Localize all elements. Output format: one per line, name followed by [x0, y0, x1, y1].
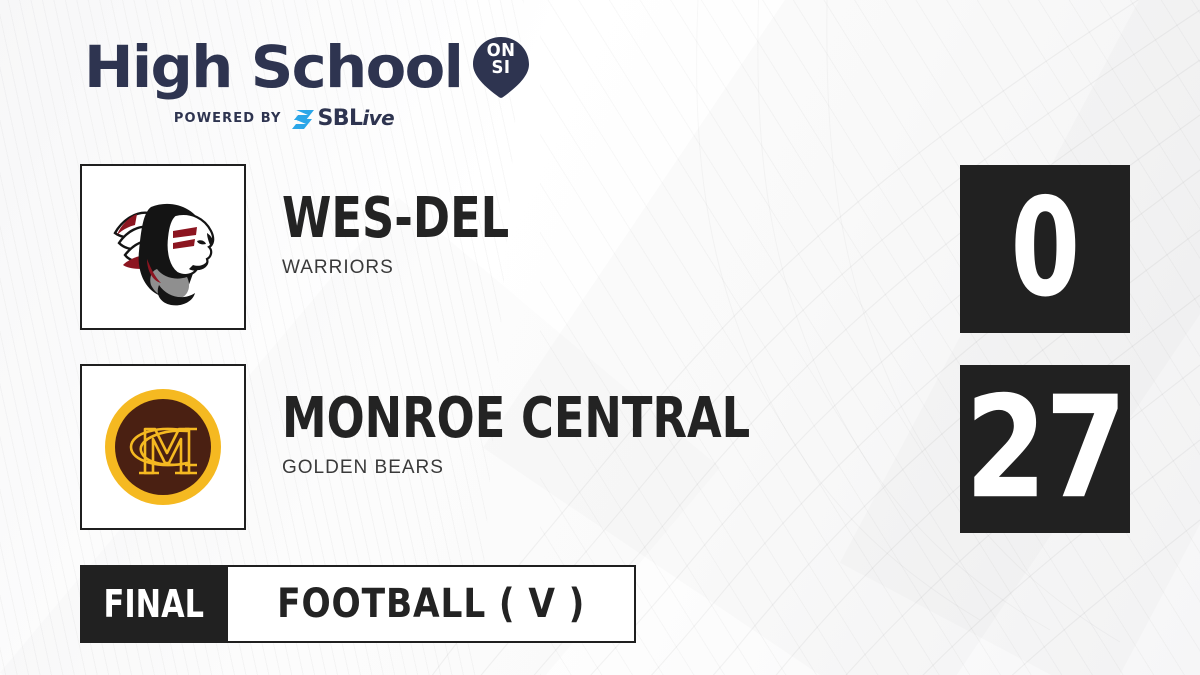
scoreboard-graphic: High School ON SI POWERED BY SBLive	[0, 0, 1200, 675]
brand-wordmark: High School	[84, 38, 462, 96]
game-status-label: FINAL	[104, 582, 204, 626]
sblive-wordmark: SBLive	[318, 107, 395, 130]
sblive-logo: SBLive	[292, 107, 395, 130]
score-box-away: 0	[960, 165, 1130, 333]
sblive-name-italic: ive	[362, 106, 394, 130]
team-text-away: WES-DEL WARRIORS	[282, 190, 982, 279]
status-bar: FINAL FOOTBALL ( V )	[80, 565, 636, 643]
team-mascot-away: WARRIORS	[282, 257, 982, 279]
score-value-home: 27	[965, 379, 1125, 520]
team-name-home: MONROE CENTRAL	[282, 390, 842, 448]
score-box-home: 27	[960, 365, 1130, 533]
powered-by-row: POWERED BY SBLive	[84, 107, 484, 130]
on-si-pin-icon: ON SI	[469, 35, 533, 99]
score-value-away: 0	[1011, 181, 1079, 317]
game-status-badge: FINAL	[80, 565, 228, 643]
team-logo-box-home	[80, 364, 246, 530]
mc-monogram-logo-icon	[101, 385, 225, 509]
team-row-home: MONROE CENTRAL GOLDEN BEARS 27	[80, 364, 1120, 534]
pin-line-si: SI	[471, 59, 530, 76]
team-row-away: WES-DEL WARRIORS 0	[80, 164, 1120, 334]
sport-label: FOOTBALL ( V )	[277, 581, 585, 627]
sport-label-box: FOOTBALL ( V )	[228, 565, 636, 643]
team-logo-box-away	[80, 164, 246, 330]
powered-by-label: POWERED BY	[174, 111, 282, 126]
on-si-pin-text: ON SI	[471, 42, 530, 76]
team-name-away: WES-DEL	[282, 190, 842, 248]
warrior-head-logo-icon	[97, 181, 229, 313]
sblive-name: SBL	[318, 106, 363, 131]
brand-header: High School ON SI POWERED BY SBLive	[84, 34, 514, 130]
team-mascot-home: GOLDEN BEARS	[282, 457, 982, 479]
team-text-home: MONROE CENTRAL GOLDEN BEARS	[282, 390, 982, 479]
sblive-bolt-icon	[292, 108, 316, 130]
brand-logo-row: High School ON SI	[84, 34, 514, 100]
